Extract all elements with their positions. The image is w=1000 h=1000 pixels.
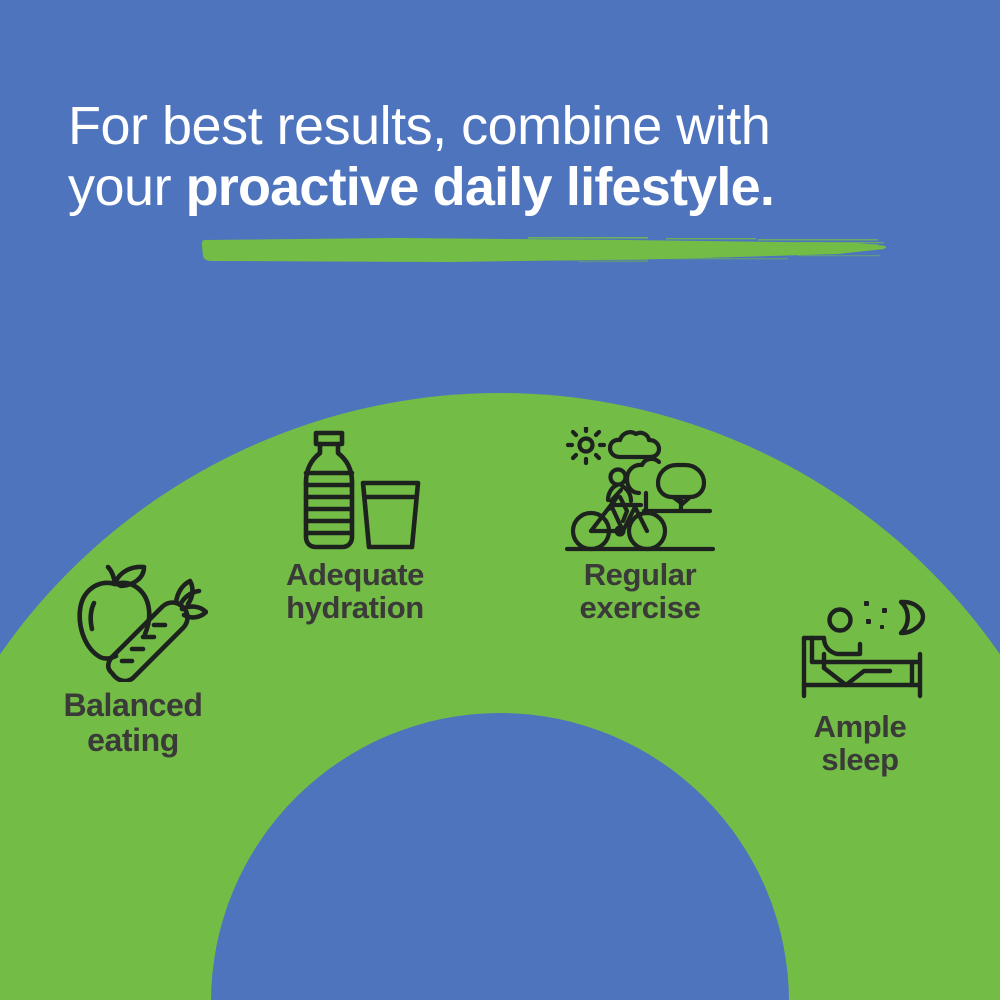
headline: For best results, combine with your proa… bbox=[68, 96, 928, 218]
feature-label: Balanced eating bbox=[8, 688, 258, 757]
icon-container bbox=[240, 440, 470, 552]
icon-container bbox=[8, 570, 258, 682]
headline-line-2-regular: your bbox=[68, 157, 186, 217]
person-sleeping-bed-moon-icon bbox=[794, 592, 926, 704]
cyclist-outdoors-icon bbox=[565, 427, 715, 552]
icon-container bbox=[760, 592, 960, 704]
headline-line-1: For best results, combine with bbox=[68, 96, 928, 157]
icon-container bbox=[540, 440, 740, 552]
apple-carrot-icon bbox=[58, 557, 208, 682]
feature-ample-sleep: Ample sleep bbox=[760, 592, 960, 777]
feature-label: Regular exercise bbox=[540, 558, 740, 625]
feature-regular-exercise: Regular exercise bbox=[540, 440, 740, 625]
lifestyle-infographic-poster: For best results, combine with your proa… bbox=[0, 0, 1000, 1000]
feature-label: Adequate hydration bbox=[240, 558, 470, 625]
green-brush-stroke-underline bbox=[198, 228, 888, 272]
feature-balanced-eating: Balanced eating bbox=[8, 570, 258, 757]
headline-line-2: your proactive daily lifestyle. bbox=[68, 157, 928, 218]
headline-line-2-bold: proactive daily lifestyle. bbox=[186, 157, 774, 217]
water-bottle-glass-icon bbox=[285, 427, 425, 552]
feature-adequate-hydration: Adequate hydration bbox=[240, 440, 470, 625]
feature-label: Ample sleep bbox=[760, 710, 960, 777]
